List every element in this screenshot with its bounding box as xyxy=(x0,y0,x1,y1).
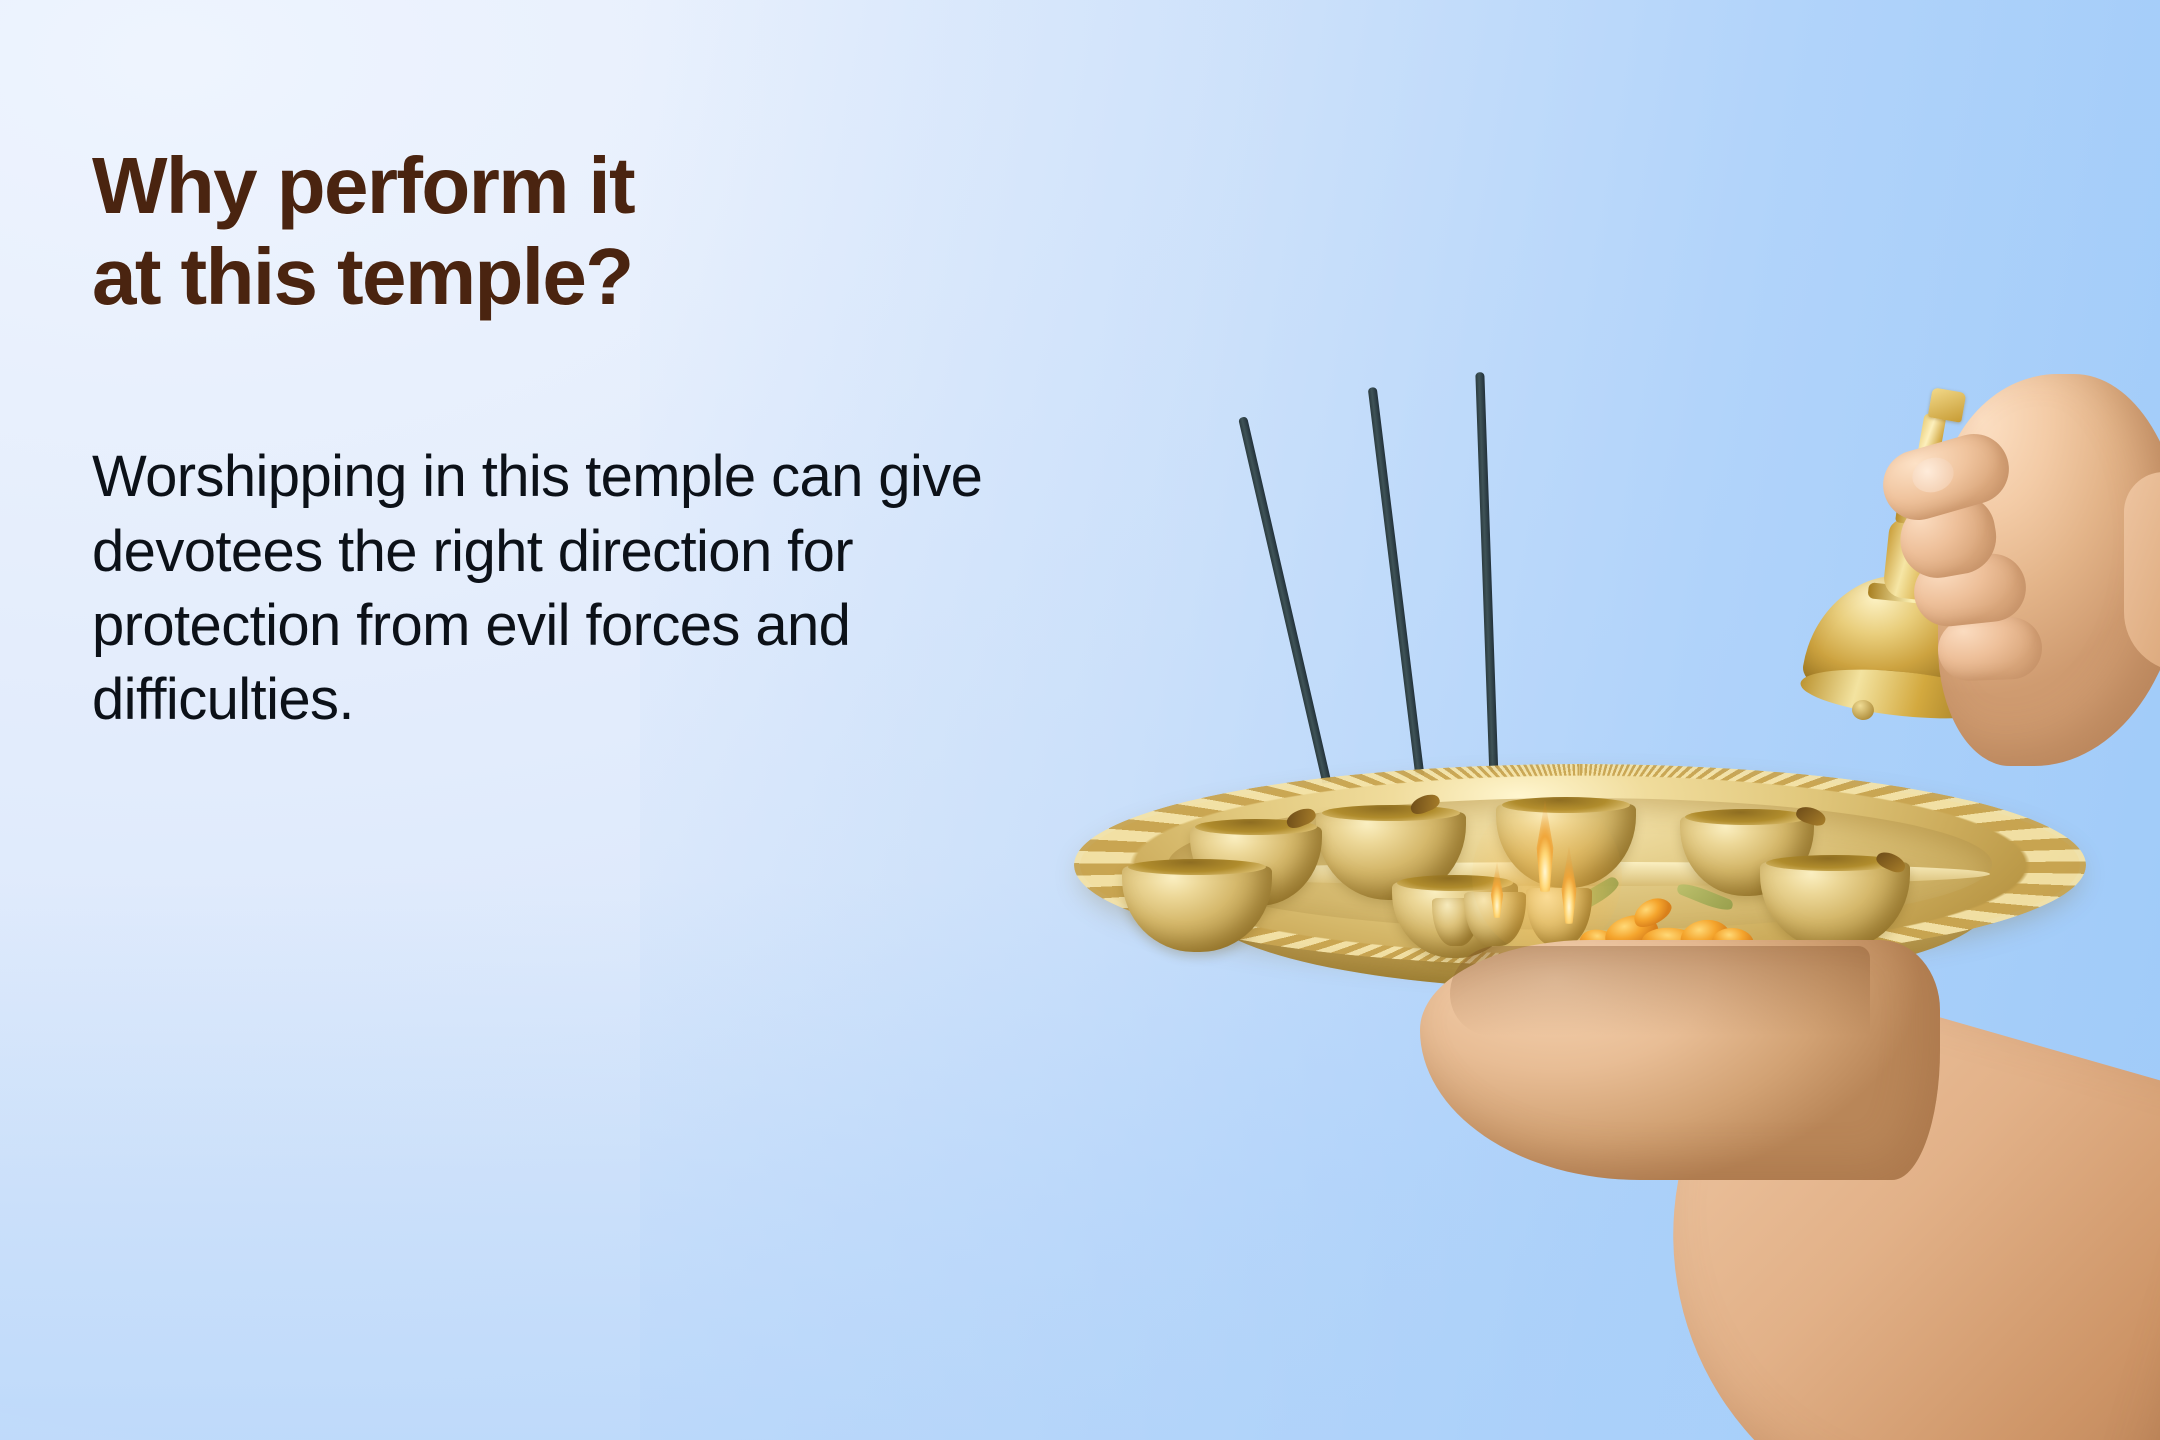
brass-bowl xyxy=(1122,866,1272,952)
plate-outer-wall xyxy=(1200,866,1990,990)
bell-handle-knob xyxy=(1928,387,1967,422)
brass-thali xyxy=(1080,770,2160,990)
flame-glow xyxy=(1472,796,1622,956)
brass-bowl xyxy=(1496,804,1636,888)
fingernail xyxy=(1908,452,1958,497)
supporting-hand xyxy=(1420,940,1940,1180)
lamp-wick-spout xyxy=(1284,805,1318,831)
marigold-petal xyxy=(1641,925,1705,957)
flower-leaf xyxy=(1566,875,1622,917)
marigold-petal xyxy=(1578,926,1622,956)
diya-flame-icon xyxy=(1558,846,1580,924)
plate-rim xyxy=(1080,770,2080,960)
wrist xyxy=(2124,472,2160,672)
lamp-wick-spout xyxy=(1794,804,1827,828)
finger xyxy=(1911,550,2029,629)
diya-flame-icon xyxy=(1532,800,1558,892)
bell-waist xyxy=(1882,518,1964,603)
lamp-wick-spout xyxy=(1408,791,1442,817)
bell-ring-band xyxy=(1867,582,1980,610)
slide-canvas: Why perform it at this temple? Worshippi… xyxy=(0,0,2160,1440)
brass-bowl xyxy=(1392,882,1518,958)
bell-mouth xyxy=(1817,663,1990,715)
palm-shadow xyxy=(1450,946,1870,1036)
body-paragraph: Worshipping in this temple can give devo… xyxy=(92,440,1052,737)
forearm xyxy=(1602,960,2160,1440)
bell-collar xyxy=(1895,504,1953,530)
sky-bottom-gradient xyxy=(0,880,2160,1440)
hand-holding-bell xyxy=(1938,374,2160,766)
lamp-wick-spout xyxy=(1874,849,1908,876)
marigold-petal xyxy=(1601,910,1661,952)
brass-bowl xyxy=(1316,812,1466,900)
incense-stick-icon xyxy=(1475,372,1501,850)
diya-flame-icon xyxy=(1488,862,1506,918)
plate-scalloped-edge xyxy=(1074,764,2086,966)
small-brass-cup xyxy=(1432,898,1480,946)
brass-bowl xyxy=(1680,816,1814,896)
small-brass-cup xyxy=(1464,892,1526,946)
bell-lip xyxy=(1798,661,2007,726)
brass-bell-group xyxy=(1700,380,2160,780)
flower-leaf xyxy=(1675,880,1734,915)
plate-well xyxy=(1168,798,1992,930)
small-brass-cup xyxy=(1526,888,1592,946)
marigold-petal xyxy=(1711,927,1755,954)
bell-clapper xyxy=(1851,699,1875,721)
bell-dome xyxy=(1798,567,2008,717)
bell-handle xyxy=(1906,413,1947,525)
finger xyxy=(1937,616,2043,682)
text-column: Why perform it at this temple? Worshippi… xyxy=(92,140,1102,737)
brass-bowl xyxy=(1190,826,1322,906)
index-finger xyxy=(1875,426,2017,529)
incense-stick-icon xyxy=(1238,416,1346,847)
thumb xyxy=(1894,490,2002,583)
plate-wall-edge xyxy=(1200,862,1990,886)
incense-stick-icon xyxy=(1368,387,1433,847)
marigold-petal xyxy=(1629,892,1676,932)
marigold-petal xyxy=(1678,917,1732,954)
brass-bowl xyxy=(1760,862,1910,950)
page-title: Why perform it at this temple? xyxy=(92,140,1102,322)
